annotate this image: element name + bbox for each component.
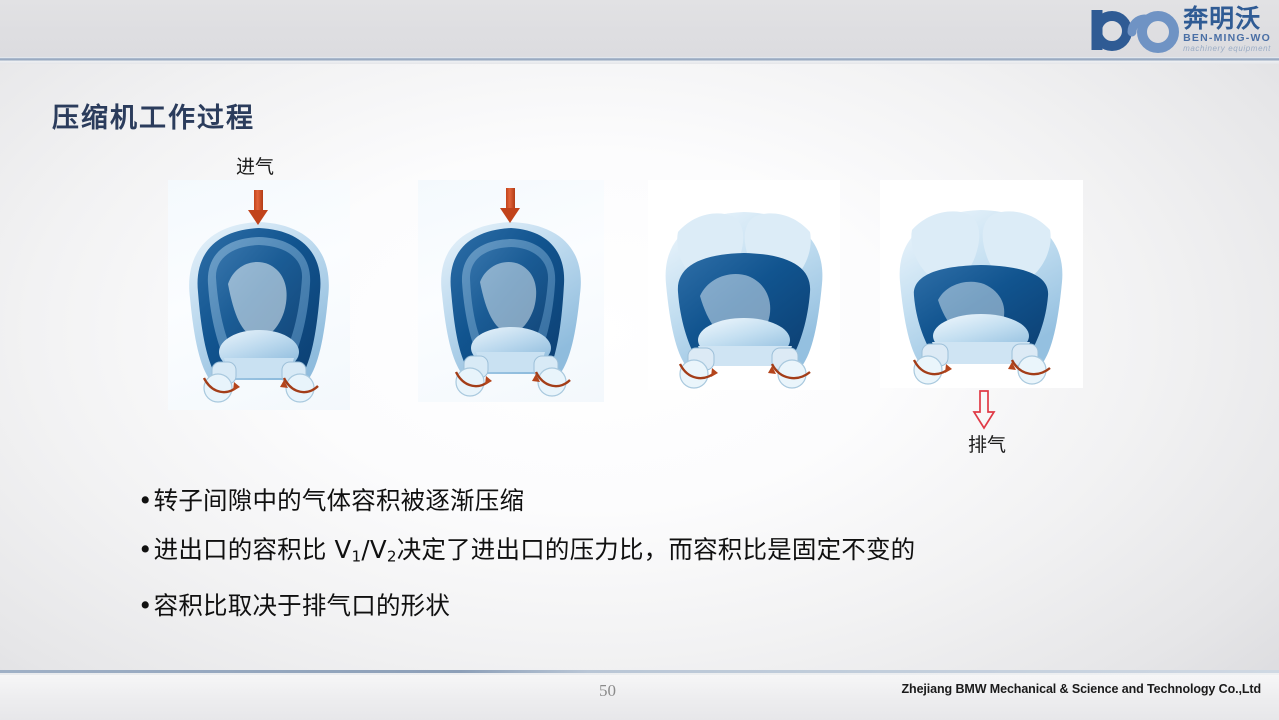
- list-item: •容积比取决于排气口的形状: [138, 581, 1118, 630]
- arrow-down-solid-icon: [506, 188, 515, 210]
- header-divider-sheen: [0, 61, 1279, 64]
- slide: 奔明沃 BEN-MING-WO machinery equipment 压缩机工…: [0, 0, 1279, 720]
- intake-arrow-stage-1: [248, 190, 269, 226]
- company-logo: 奔明沃 BEN-MING-WO machinery equipment: [1043, 4, 1271, 56]
- stage-3-compressed: [648, 180, 840, 390]
- stage-3-canvas: [648, 180, 840, 390]
- bullet-text-1: 转子间隙中的气体容积被逐渐压缩: [154, 486, 525, 515]
- stage-4-discharge: [880, 180, 1083, 388]
- arrow-head: [500, 208, 520, 223]
- bullet-marker: •: [138, 486, 153, 515]
- bullet-text-2-post: 决定了进出口的压力比，而容积比是固定不变的: [397, 535, 916, 564]
- stage-1-intake: [168, 180, 350, 410]
- stage-1-canvas: [168, 180, 350, 410]
- arrow-down-solid-icon: [254, 190, 263, 212]
- bullet-text-2-pre: 进出口的容积比 V: [154, 535, 352, 564]
- logo-wordmark: 奔明沃 BEN-MING-WO machinery equipment: [1183, 7, 1271, 53]
- arrow-head: [248, 210, 268, 225]
- bullet-marker: •: [138, 535, 153, 564]
- stage-2-canvas: [418, 180, 604, 402]
- discharge-label: 排气: [968, 430, 1006, 457]
- bullet-text-3: 容积比取决于排气口的形状: [154, 591, 450, 620]
- intake-label: 进气: [236, 152, 274, 179]
- bullet-text-2-sub1: 1: [352, 547, 362, 565]
- list-item: •进出口的容积比 V1/V2决定了进出口的压力比，而容积比是固定不变的: [138, 525, 1118, 581]
- bullet-text-2-mid: /V: [361, 535, 386, 564]
- list-item: •转子间隙中的气体容积被逐渐压缩: [138, 476, 1118, 525]
- logo-chinese-name: 奔明沃: [1183, 6, 1271, 31]
- intake-arrow-stage-2: [500, 188, 521, 224]
- footer-company-name: Zhejiang BMW Mechanical & Science and Te…: [902, 682, 1262, 696]
- bullet-list: •转子间隙中的气体容积被逐渐压缩 •进出口的容积比 V1/V2决定了进出口的压力…: [138, 476, 1118, 630]
- stage-4-canvas: [880, 180, 1083, 388]
- bullet-marker: •: [138, 591, 153, 620]
- page-number: 50: [599, 681, 616, 701]
- logo-latin-name: BEN-MING-WO: [1183, 32, 1271, 44]
- page-title: 压缩机工作过程: [52, 96, 255, 135]
- screw-rotor-illustration-3: [648, 180, 840, 390]
- stage-2-compressing: [418, 180, 604, 402]
- compression-process-diagram: 进气 排气: [0, 140, 1279, 470]
- arrow-down-outline-icon: [972, 390, 996, 430]
- screw-rotor-illustration-4: [880, 180, 1083, 388]
- bullet-text-2-sub2: 2: [387, 547, 397, 565]
- discharge-arrow: [972, 390, 996, 430]
- bo-monogram-icon: [1089, 7, 1185, 53]
- logo-tagline: machinery equipment: [1183, 44, 1271, 54]
